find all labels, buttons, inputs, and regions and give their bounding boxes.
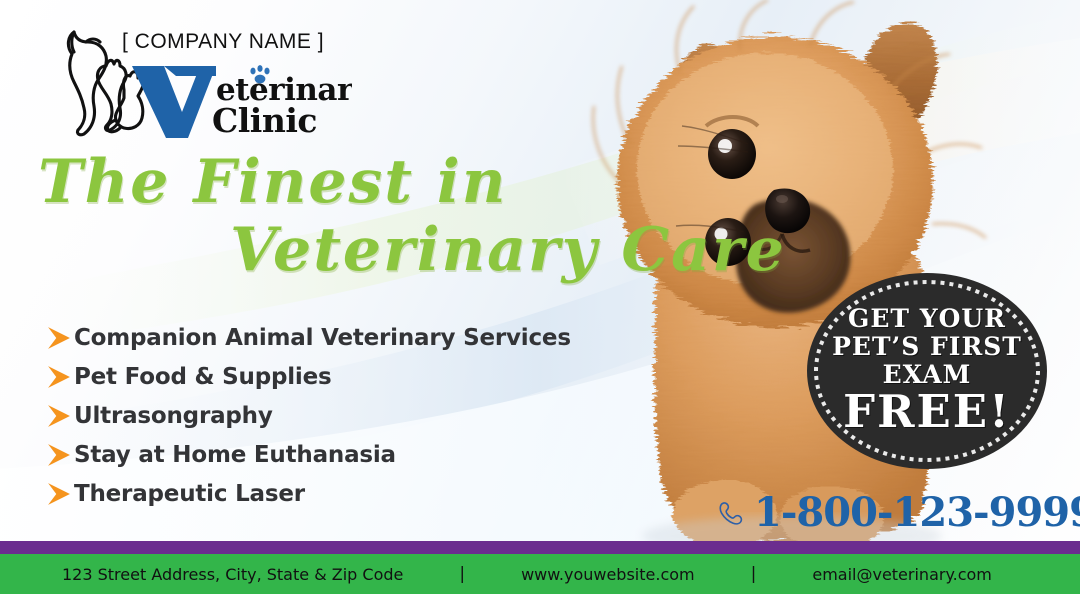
service-label: Ultrasongraphy (74, 403, 273, 429)
list-item: Ultrasongraphy (44, 396, 624, 435)
headline-line-2: Veterinary Care (0, 216, 730, 284)
badge-text: GET YOUR PET’S FIRST EXAM FREE! (806, 272, 1048, 470)
footer-separator: | (459, 564, 465, 584)
footer-address: 123 Street Address, City, State & Zip Co… (62, 565, 403, 584)
list-item: Stay at Home Euthanasia (44, 435, 624, 474)
phone-handset-icon (716, 499, 744, 527)
phone-number: 1-800-123-9999 (754, 489, 1080, 536)
offer-badge[interactable]: GET YOUR PET’S FIRST EXAM FREE! (806, 272, 1048, 470)
list-item: Pet Food & Supplies (44, 357, 624, 396)
badge-line-1: GET YOUR (848, 306, 1006, 332)
services-list: Companion Animal Veterinary Services Pet… (44, 318, 624, 513)
list-item: Companion Animal Veterinary Services (44, 318, 624, 357)
arrow-bullet-icon (44, 362, 74, 392)
arrow-bullet-icon (44, 323, 74, 353)
arrow-bullet-icon (44, 401, 74, 431)
footer-accent-bar (0, 541, 1080, 554)
footer-bar: 123 Street Address, City, State & Zip Co… (0, 554, 1080, 594)
footer-email[interactable]: email@veterinary.com (812, 565, 992, 584)
brand-logo: [ COMPANY NAME ] eterinary Clinic (52, 24, 352, 140)
phone-contact[interactable]: 1-800-123-9999 (716, 489, 1080, 536)
svg-text:Clinic: Clinic (212, 101, 317, 140)
service-label: Pet Food & Supplies (74, 364, 332, 390)
service-label: Companion Animal Veterinary Services (74, 325, 571, 351)
veterinary-clinic-banner: [ COMPANY NAME ] eterinary Clinic The Fi… (0, 0, 1080, 594)
badge-line-4: FREE! (843, 389, 1011, 436)
footer-website[interactable]: www.youwebsite.com (521, 565, 695, 584)
list-item: Therapeutic Laser (44, 474, 624, 513)
service-label: Therapeutic Laser (74, 481, 305, 507)
headline-line-1: The Finest in (0, 148, 730, 216)
service-label: Stay at Home Euthanasia (74, 442, 396, 468)
page-title: The Finest in Veterinary Care (0, 148, 730, 284)
arrow-bullet-icon (44, 479, 74, 509)
footer-separator: | (751, 564, 757, 584)
company-name-placeholder: [ COMPANY NAME ] (122, 30, 324, 54)
arrow-bullet-icon (44, 440, 74, 470)
veterinary-clinic-wordmark: eterinary Clinic (130, 62, 352, 140)
badge-line-2: PET’S FIRST (832, 334, 1022, 360)
